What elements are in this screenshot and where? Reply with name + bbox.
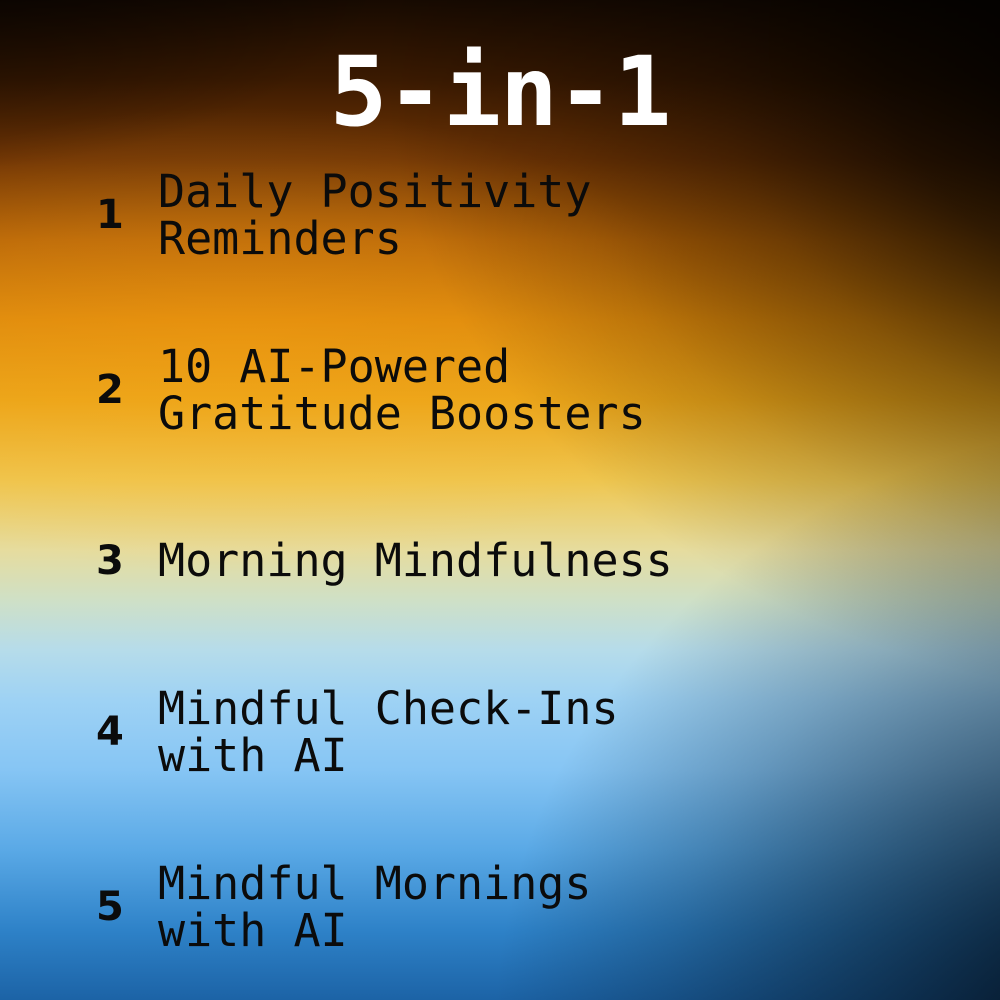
poster-canvas: 5-in-1 1 Daily Positivity Reminders 2 10… [0,0,1000,1000]
page-title: 5-in-1 [0,44,1000,140]
list-item-number: 5 [96,887,158,927]
list-item: 4 Mindful Check-Ins with AI [0,685,1000,780]
poster-content: 5-in-1 1 Daily Positivity Reminders 2 10… [0,0,1000,1000]
list-item-number: 2 [96,370,158,410]
list-item: 1 Daily Positivity Reminders [0,168,1000,263]
list-item: 5 Mindful Mornings with AI [0,860,1000,955]
list-item-label: 10 AI-Powered Gratitude Boosters [158,343,1000,438]
list-item-number: 1 [96,195,158,235]
feature-list: 1 Daily Positivity Reminders 2 10 AI-Pow… [0,168,1000,954]
list-item-label: Daily Positivity Reminders [158,168,1000,263]
list-item-label: Mindful Mornings with AI [158,860,1000,955]
list-item: 3 Morning Mindfulness [0,518,1000,604]
list-item-number: 3 [96,541,158,581]
list-item-label: Morning Mindfulness [158,537,1000,584]
list-item: 2 10 AI-Powered Gratitude Boosters [0,343,1000,438]
list-item-number: 4 [96,712,158,752]
list-item-label: Mindful Check-Ins with AI [158,685,1000,780]
